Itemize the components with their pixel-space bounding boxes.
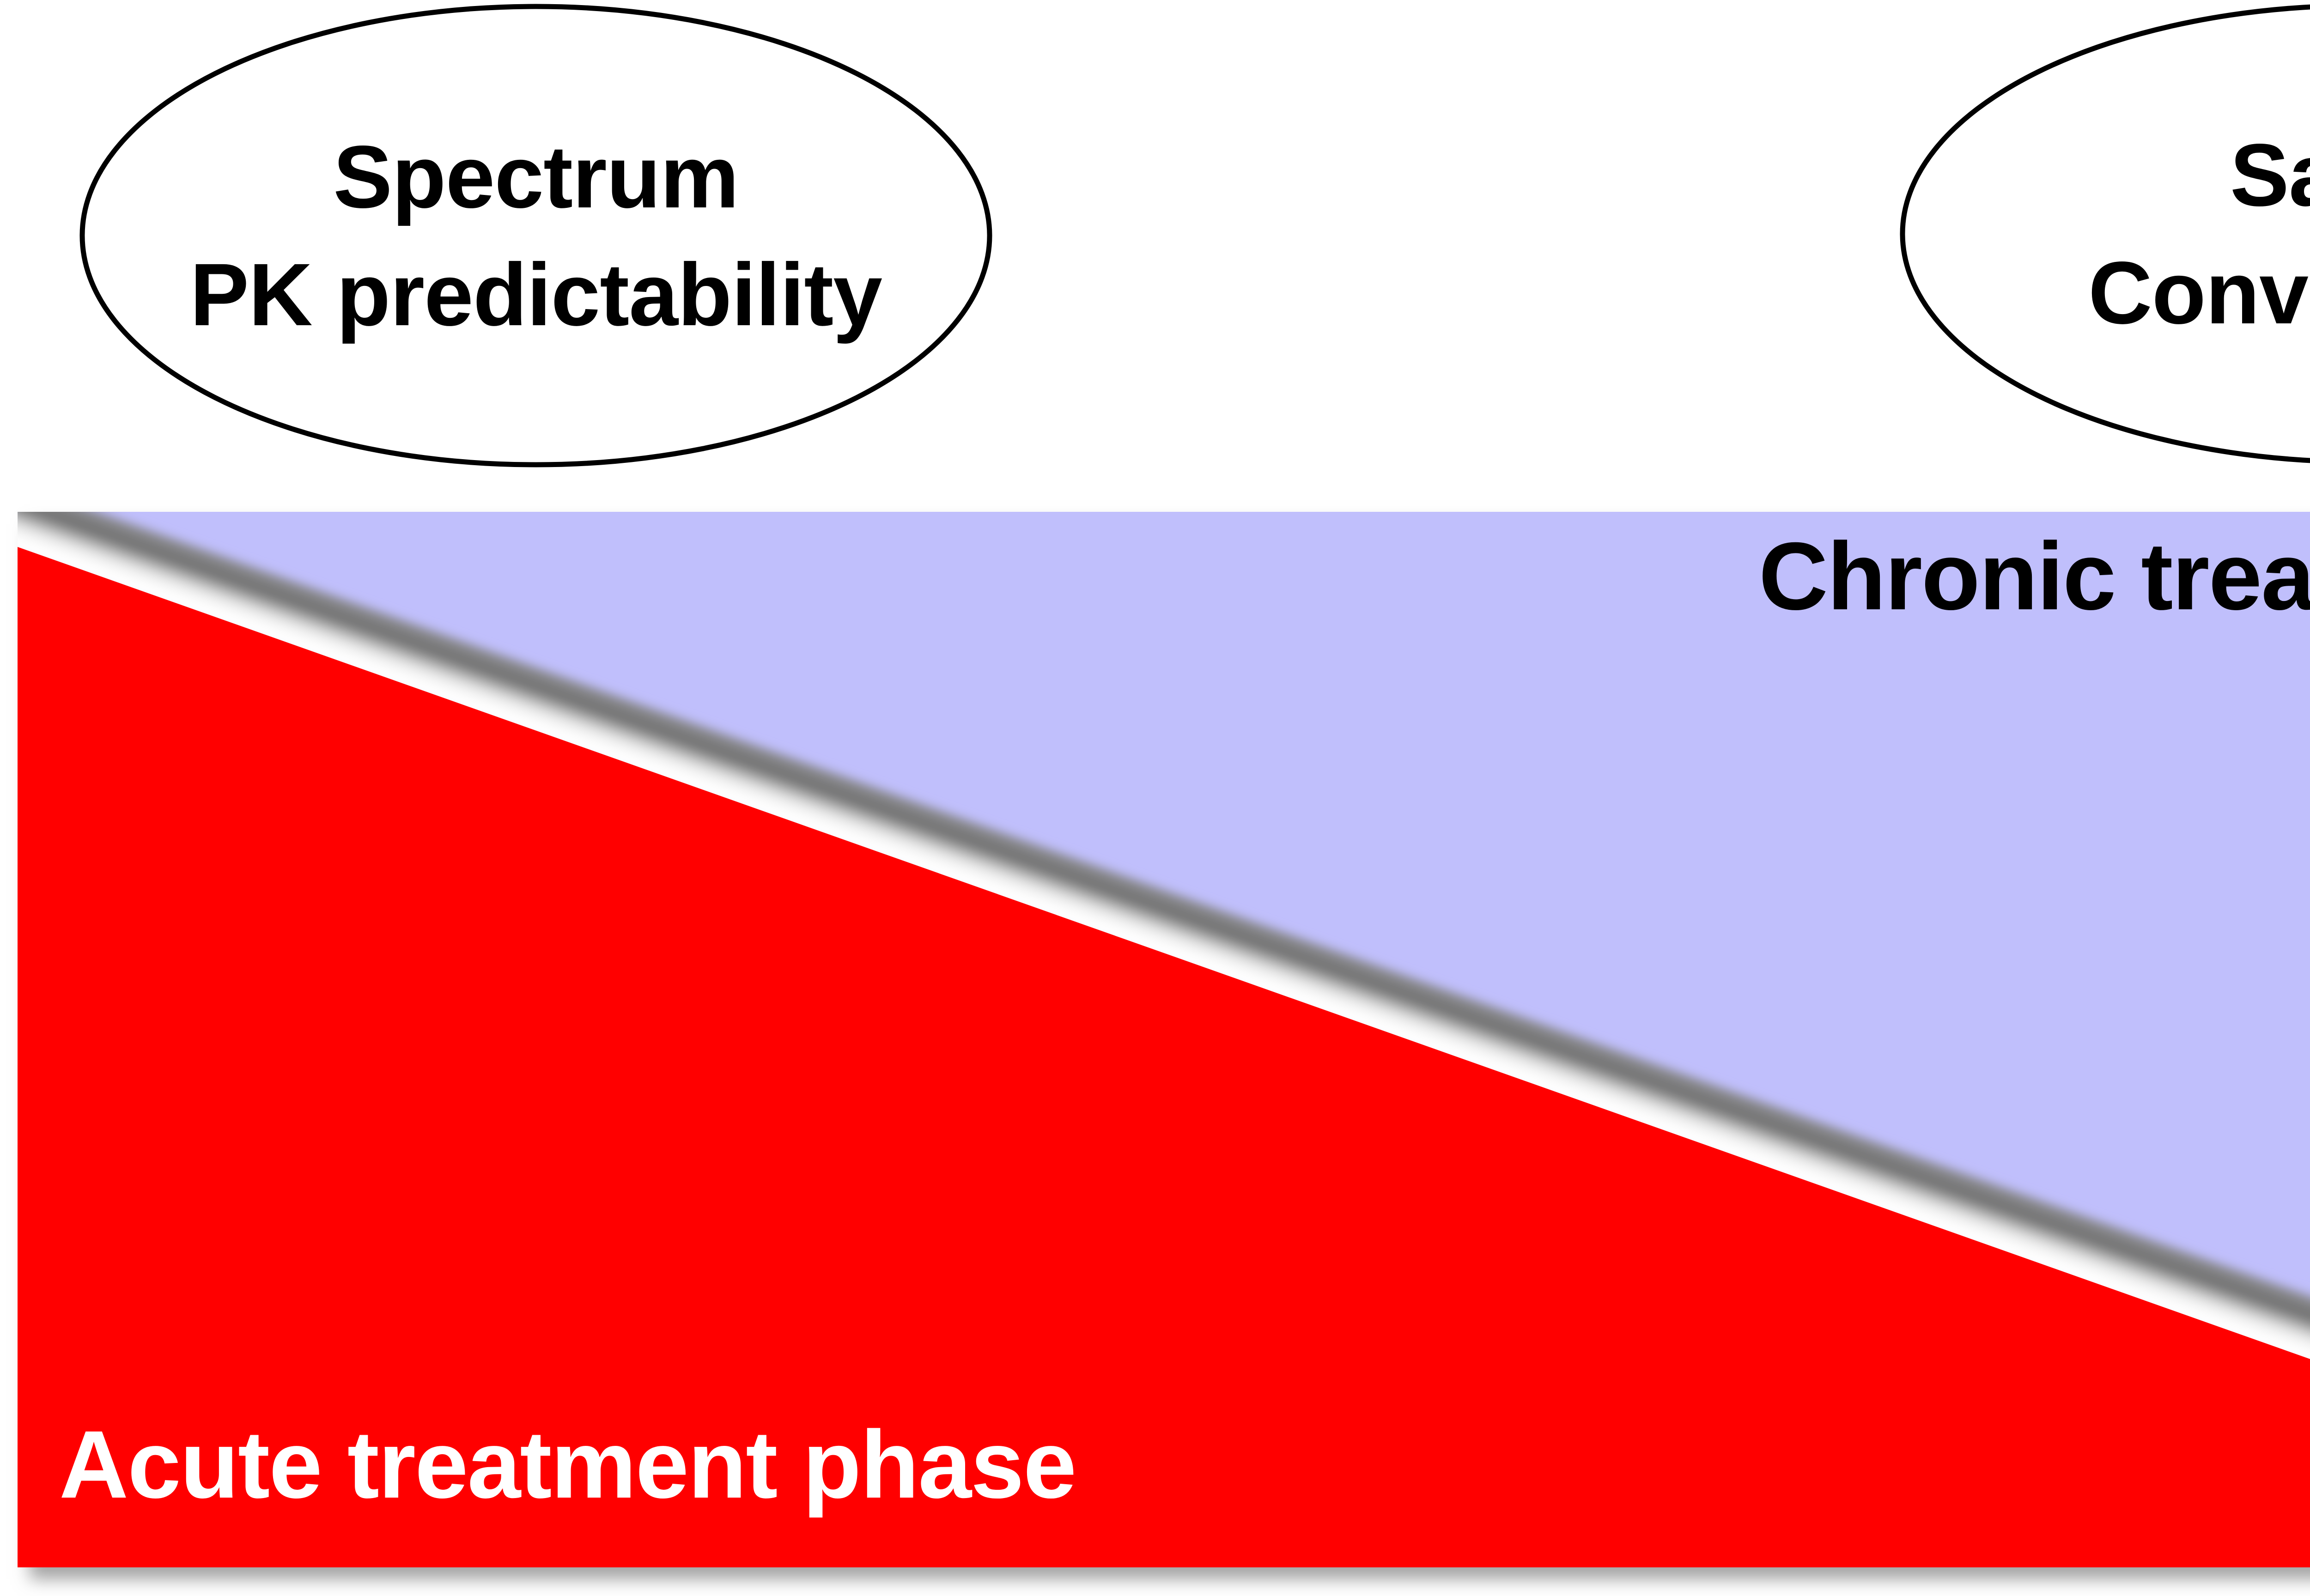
callout-text-block: Safety Convenience	[1900, 3, 2310, 465]
phase-split-graphic	[18, 512, 2310, 1567]
acute-phase-label: Acute treatment phase	[59, 1417, 1076, 1513]
chronic-phase-label: Chronic treatment phase	[1759, 528, 2310, 625]
callout-line-1: Safety	[2230, 116, 2310, 234]
callout-ellipse-spectrum-pk[interactable]: Spectrum PK predictability	[79, 4, 992, 467]
callout-line-2: Convenience	[2088, 234, 2310, 352]
diagram-canvas: Spectrum PK predictability Safety Conven…	[0, 0, 2310, 1596]
treatment-phase-panel[interactable]: Chronic treatment phase Acute treatment …	[18, 512, 2310, 1567]
callout-line-2: PK predictability	[190, 236, 882, 353]
callout-ellipse-safety-convenience[interactable]: Safety Convenience	[1900, 3, 2310, 465]
callout-text-block: Spectrum PK predictability	[79, 4, 992, 467]
callout-line-1: Spectrum	[333, 118, 739, 236]
